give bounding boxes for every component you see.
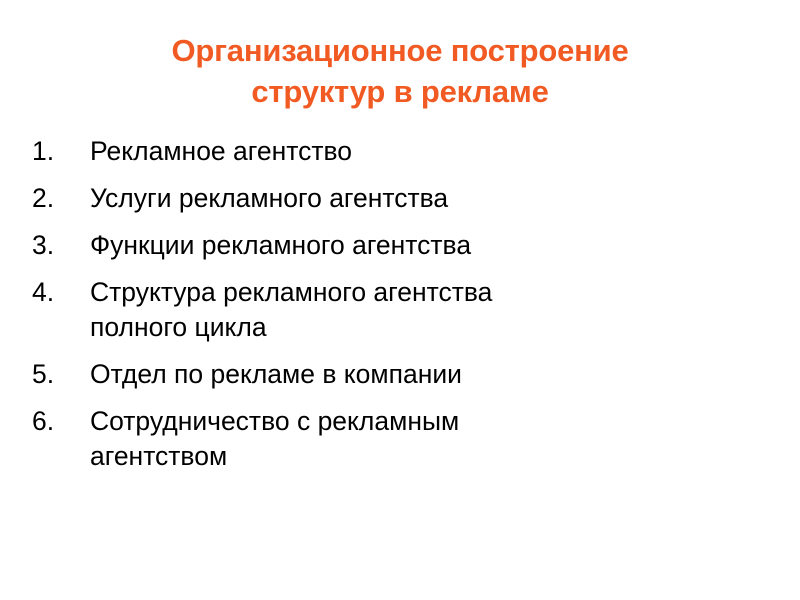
list-item-text: Рекламное агентство: [90, 134, 650, 169]
list-item: 3. Функции рекламного агентства: [28, 228, 768, 263]
list-item-line-1: Функции рекламного агентства: [90, 228, 650, 263]
list-item-line-1: Отдел по рекламе в компании: [90, 357, 650, 392]
page-title-line-2: структур в рекламе: [60, 71, 740, 112]
list-item-line-1: Сотрудничество с рекламным: [90, 404, 650, 439]
list-item-line-1: Услуги рекламного агентства: [90, 181, 650, 216]
list-item-line-1: Структура рекламного агентства: [90, 275, 650, 310]
list-item-text: Услуги рекламного агентства: [90, 181, 650, 216]
list-item-marker: 2.: [28, 181, 90, 216]
list-item: 6. Сотрудничество с рекламным агентством: [28, 404, 768, 474]
list-item-line-1: Рекламное агентство: [90, 134, 650, 169]
list-item: 1. Рекламное агентство: [28, 134, 768, 169]
page-title: Организационное построение структур в ре…: [60, 30, 740, 112]
numbered-list: 1. Рекламное агентство 2. Услуги рекламн…: [28, 134, 768, 486]
list-item-text: Отдел по рекламе в компании: [90, 357, 650, 392]
list-item-line-2: полного цикла: [90, 310, 650, 345]
list-item: 2. Услуги рекламного агентства: [28, 181, 768, 216]
list-item-marker: 1.: [28, 134, 90, 169]
list-item-line-2: агентством: [90, 439, 650, 474]
list-item-text: Структура рекламного агентства полного ц…: [90, 275, 650, 345]
list-item-marker: 4.: [28, 275, 90, 310]
list-item-text: Сотрудничество с рекламным агентством: [90, 404, 650, 474]
presentation-slide: Организационное построение структур в ре…: [0, 0, 800, 600]
list-item: 4. Структура рекламного агентства полног…: [28, 275, 768, 345]
list-item-marker: 3.: [28, 228, 90, 263]
list-item-marker: 5.: [28, 357, 90, 392]
list-item: 5. Отдел по рекламе в компании: [28, 357, 768, 392]
list-item-marker: 6.: [28, 404, 90, 439]
page-title-line-1: Организационное построение: [60, 30, 740, 71]
list-item-text: Функции рекламного агентства: [90, 228, 650, 263]
